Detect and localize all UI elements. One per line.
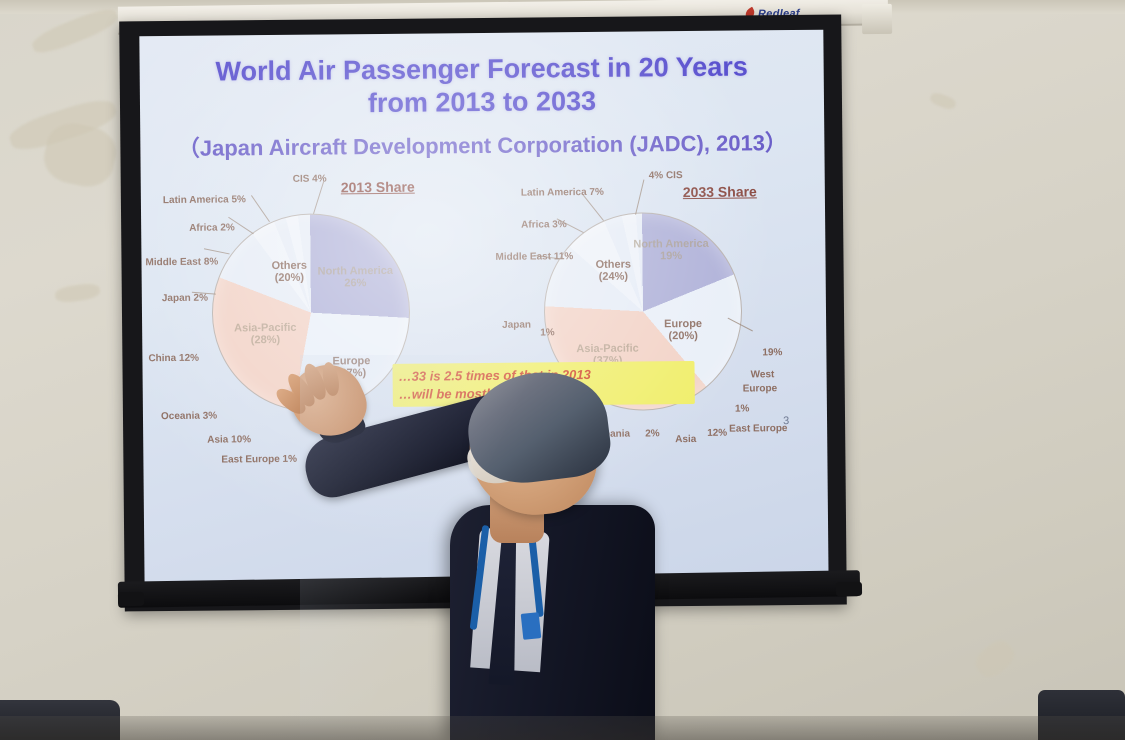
callout-2033-east-europe-name: East Europe xyxy=(729,423,787,435)
callout-2033-asia-value: 12% xyxy=(707,428,727,439)
slice-name: Asia-Pacific xyxy=(576,343,638,356)
slice-name: Others xyxy=(271,260,307,272)
wall-scuff xyxy=(54,282,101,304)
slice-name: North America xyxy=(633,238,709,251)
chart-title-2033: 2033 Share xyxy=(683,183,757,200)
pie-2013-slice-label-north-america: North America 26% xyxy=(318,265,394,290)
callout-2013-cis: CIS 4% xyxy=(293,173,327,184)
pie-2013-slice-label-asia-pacific: Asia-Pacific (28%) xyxy=(234,322,297,347)
callout-2013-africa: Africa 2% xyxy=(189,222,235,233)
callout-2013-china: China 12% xyxy=(148,353,199,364)
callout-2033-west-europe-name2: Europe xyxy=(743,383,778,394)
slide-page-number: 3 xyxy=(783,415,789,427)
wall-scuff xyxy=(929,91,958,111)
leader-line xyxy=(635,180,644,215)
slice-pct: (20%) xyxy=(668,330,697,342)
callout-2013-middle-east: Middle East 8% xyxy=(145,257,218,269)
leader-line xyxy=(313,181,324,214)
callout-2033-west-europe-name: West xyxy=(751,369,775,380)
callout-2033-east-europe-value: 1% xyxy=(735,403,750,414)
leader-line xyxy=(251,195,270,222)
callout-2033-japan-value: 1% xyxy=(540,327,555,338)
pie-2013-slice-label-others: Others (20%) xyxy=(271,260,307,284)
callout-2013-east-europe: East Europe 1% xyxy=(221,454,297,466)
pie-2033-slice-label-north-america: North America 19% xyxy=(633,238,709,263)
callout-2033-cis: 4% CIS xyxy=(649,170,683,181)
slice-pct: (24%) xyxy=(599,271,628,283)
callout-2033-west-europe-value: 19% xyxy=(762,347,782,358)
pie-2033-slice-label-others: Others (24%) xyxy=(595,259,631,283)
chart-title-2013: 2013 Share xyxy=(341,179,415,196)
callout-2013-latin-america: Latin America 5% xyxy=(163,194,246,206)
callout-2033-middle-east: Middle East 11% xyxy=(495,251,573,263)
slide-title: World Air Passenger Forecast in 20 Years… xyxy=(140,50,825,122)
slice-pct: (28%) xyxy=(251,334,280,346)
screen-foot-right xyxy=(836,582,862,596)
slide-subtitle: （Japan Aircraft Development Corporation … xyxy=(140,125,824,164)
callout-2033-japan: Japan xyxy=(502,320,531,331)
slice-name: Europe xyxy=(664,318,702,330)
foreground-shadow xyxy=(0,716,1125,740)
callout-2013-asia: Asia 10% xyxy=(207,434,251,445)
slice-name: Asia-Pacific xyxy=(234,322,296,335)
slice-name: Others xyxy=(595,259,631,271)
callout-2033-latin-america: Latin America 7% xyxy=(521,187,604,199)
slice-pct: 26% xyxy=(344,277,366,289)
wall-scuff xyxy=(971,636,1020,683)
pie-2033-slice-label-europe: Europe (20%) xyxy=(664,318,702,342)
presenter-id-badge xyxy=(521,612,542,640)
slide-title-line2: from 2013 to 2033 xyxy=(368,86,596,118)
screen-valance-end-cap xyxy=(862,4,892,34)
presenter-hair xyxy=(462,365,614,489)
slice-pct: 19% xyxy=(660,250,682,262)
leader-line xyxy=(204,248,230,254)
slice-pct: (20%) xyxy=(275,272,304,284)
callout-2033-africa: Africa 3% xyxy=(521,219,567,230)
presenter-person xyxy=(300,355,700,740)
screen-foot-left xyxy=(118,592,144,606)
callout-2013-oceania: Oceania 3% xyxy=(161,411,217,423)
lecture-room-photo: Redleaf World Air Passenger Forecast in … xyxy=(0,0,1125,740)
slice-name: North America xyxy=(318,265,394,278)
slide-title-line1: World Air Passenger Forecast in 20 Years xyxy=(215,51,748,86)
callout-2013-japan: Japan 2% xyxy=(162,293,208,304)
